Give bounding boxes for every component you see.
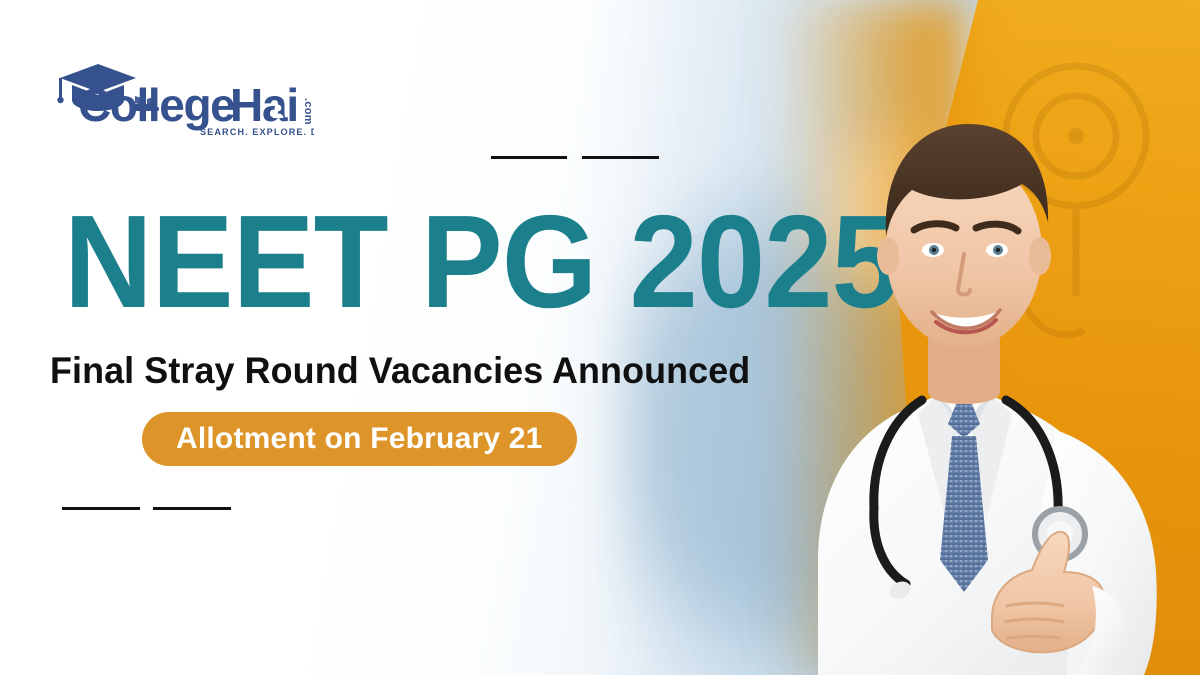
- svg-text:SEARCH. EXPLORE. DISCOVER: SEARCH. EXPLORE. DISCOVER: [200, 127, 314, 137]
- rule-top-left: [491, 156, 567, 159]
- doctor-head: [877, 124, 1051, 348]
- neet-pg-announcement-banner: College Hai .com SEARCH. EXPLORE. DISCOV…: [0, 0, 1200, 675]
- svg-text:.com: .com: [302, 98, 314, 125]
- rule-bottom-right: [153, 507, 231, 510]
- rule-bottom-left: [62, 507, 140, 510]
- smiling-doctor-photo: [700, 0, 1200, 675]
- collegehai-logo[interactable]: College Hai .com SEARCH. EXPLORE. DISCOV…: [52, 58, 314, 140]
- allotment-date-badge: Allotment on February 21: [142, 412, 577, 466]
- subtitle: Final Stray Round Vacancies Announced: [50, 352, 750, 389]
- svg-text:Hai: Hai: [230, 79, 298, 131]
- rule-top-right: [582, 156, 659, 159]
